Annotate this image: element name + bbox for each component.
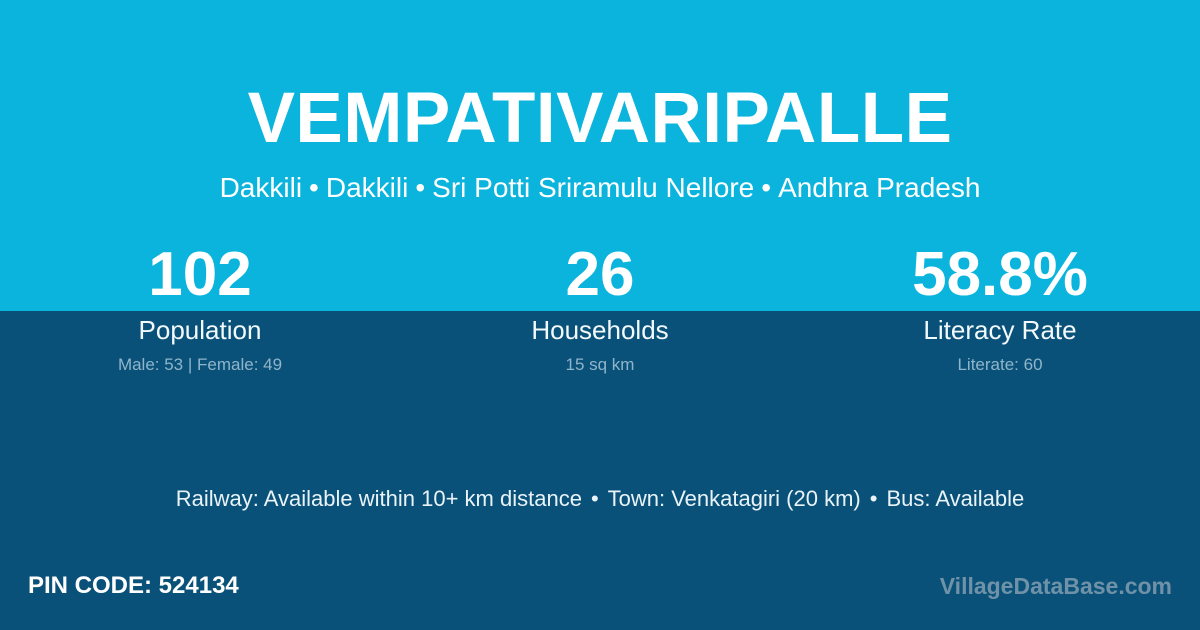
amenity-bus: Bus: Available xyxy=(886,486,1024,511)
amenity-town: Town: Venkatagiri (20 km) xyxy=(608,486,861,511)
village-info-card: VEMPATIVARIPALLE Dakkili•Dakkili•Sri Pot… xyxy=(0,0,1200,630)
breadcrumb-separator: • xyxy=(754,172,778,203)
pin-code-label: PIN CODE: 524134 xyxy=(28,574,239,598)
card-header: VEMPATIVARIPALLE Dakkili•Dakkili•Sri Pot… xyxy=(0,0,1200,202)
breadcrumb-item-block: Dakkili xyxy=(326,172,408,203)
stat-subtext: 15 sq km xyxy=(400,356,800,375)
stat-value: 58.8% xyxy=(800,244,1200,310)
card-footer: PIN CODE: 524134 VillageDataBase.com xyxy=(0,560,1200,630)
amenity-separator: • xyxy=(861,486,887,511)
stat-value: 26 xyxy=(400,244,800,310)
stat-subtext: Literate: 60 xyxy=(800,356,1200,375)
amenities-line: Railway: Available within 10+ km distanc… xyxy=(0,486,1200,512)
breadcrumb-item-district: Sri Potti Sriramulu Nellore xyxy=(432,172,754,203)
breadcrumb: Dakkili•Dakkili•Sri Potti Sriramulu Nell… xyxy=(0,174,1200,202)
page-title: VEMPATIVARIPALLE xyxy=(0,83,1200,154)
stat-label: Households xyxy=(400,316,800,345)
stat-literacy-rate: 58.8% Literacy Rate Literate: 60 xyxy=(800,244,1200,374)
breadcrumb-item-subdistrict: Dakkili xyxy=(220,172,302,203)
stat-households: 26 Households 15 sq km xyxy=(400,244,800,374)
breadcrumb-separator: • xyxy=(302,172,326,203)
stat-population: 102 Population Male: 53 | Female: 49 xyxy=(0,244,400,374)
stats-row: 102 Population Male: 53 | Female: 49 26 … xyxy=(0,244,1200,374)
amenity-separator: • xyxy=(582,486,608,511)
breadcrumb-separator: • xyxy=(408,172,432,203)
stat-label: Population xyxy=(0,316,400,345)
stat-label: Literacy Rate xyxy=(800,316,1200,345)
stat-subtext: Male: 53 | Female: 49 xyxy=(0,356,400,375)
site-branding: VillageDataBase.com xyxy=(940,575,1172,598)
stat-value: 102 xyxy=(0,244,400,310)
breadcrumb-item-state: Andhra Pradesh xyxy=(778,172,980,203)
amenity-railway: Railway: Available within 10+ km distanc… xyxy=(176,486,582,511)
